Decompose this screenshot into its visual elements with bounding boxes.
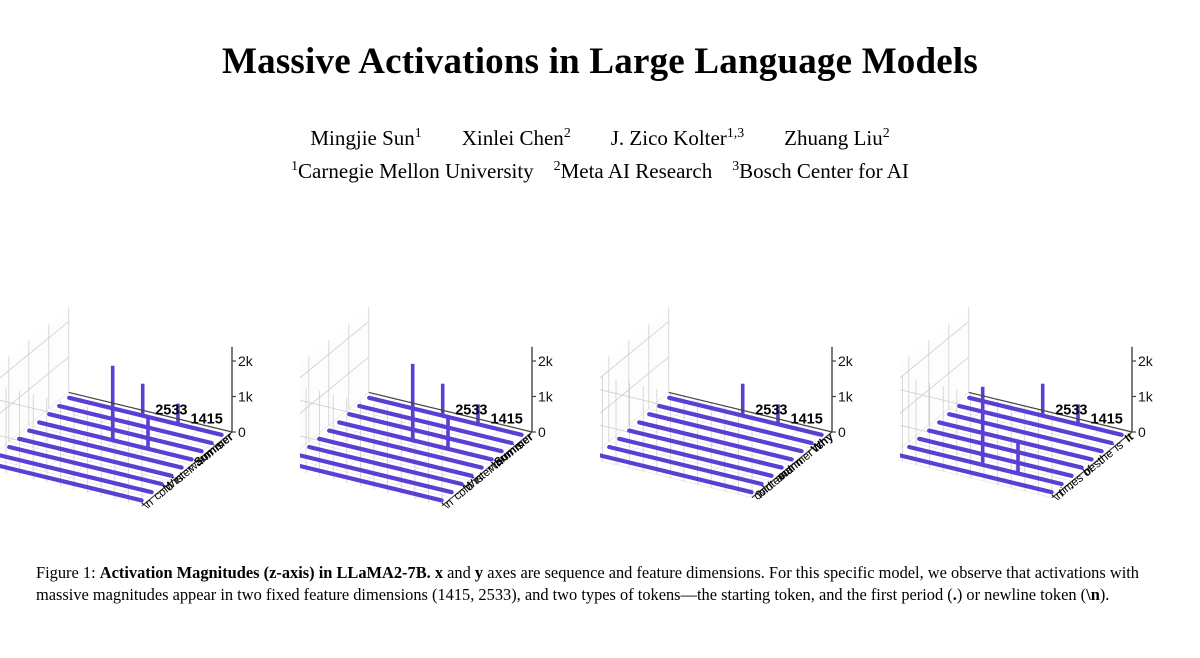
y-tick-label: 2533: [155, 403, 187, 419]
caption-label: Figure 1:: [36, 563, 100, 582]
figure-1: 01k2k14152533Summeriswarm.Winteriscold.\…: [0, 280, 1200, 555]
author-name: Xinlei Chen: [462, 126, 564, 150]
affiliations-row: 1Carnegie Mellon University2Meta AI Rese…: [0, 158, 1200, 186]
author-affil-mark: 2: [883, 125, 890, 140]
author-2: Xinlei Chen2: [462, 126, 571, 150]
z-tick-label: 1k: [1138, 389, 1154, 405]
z-tick-label: 1k: [838, 389, 854, 405]
activation-3d-plot-2: 01k2k14152533Whyissummerwarmandwintercol…: [600, 280, 900, 555]
z-axis-ticks: 01k2k: [232, 353, 254, 440]
z-tick-label: 1k: [538, 389, 554, 405]
author-3: J. Zico Kolter1,3: [611, 126, 744, 150]
author-1: Mingjie Sun1: [310, 126, 421, 150]
affiliation-3: 3Bosch Center for AI: [732, 159, 909, 183]
author-affil-mark: 1: [415, 125, 422, 140]
y-tick-label: 1415: [491, 411, 523, 427]
caption-axis-x: x: [435, 563, 443, 582]
affiliation-2: 2Meta AI Research: [554, 159, 713, 183]
y-tick-label: 2533: [755, 403, 787, 419]
caption-text-1: and: [443, 563, 475, 582]
affiliation-mark: 2: [554, 158, 561, 173]
y-tick-label: 1415: [191, 411, 223, 427]
author-affil-mark: 1,3: [727, 125, 744, 140]
z-axis-ticks: 01k2k: [532, 353, 554, 440]
z-tick-label: 2k: [238, 353, 254, 369]
affiliation-name: Carnegie Mellon University: [298, 159, 534, 183]
caption-text-3: ) or newline token (: [957, 585, 1086, 604]
z-tick-label: 2k: [838, 353, 854, 369]
affiliation-name: Meta AI Research: [561, 159, 713, 183]
z-axis-ticks: 01k2k: [832, 353, 854, 440]
figure-panel-1: 01k2k14152533Summeriswarm\nWinteriscold.…: [300, 280, 600, 555]
author-affil-mark: 2: [564, 125, 571, 140]
z-tick-label: 0: [838, 424, 846, 440]
z-tick-label: 1k: [238, 389, 254, 405]
activation-3d-plot-0: 01k2k14152533Summeriswarm.Winteriscold.\…: [0, 280, 300, 555]
paper-page: Massive Activations in Large Language Mo…: [0, 42, 1200, 658]
z-tick-label: 0: [538, 424, 546, 440]
y-tick-label: 2533: [1055, 403, 1087, 419]
z-tick-label: 2k: [1138, 353, 1154, 369]
affiliation-1: 1Carnegie Mellon University: [291, 159, 534, 183]
author-block: Mingjie Sun1Xinlei Chen2J. Zico Kolter1,…: [0, 125, 1200, 186]
figure-panel-0: 01k2k14152533Summeriswarm.Winteriscold.\…: [0, 280, 300, 555]
activation-3d-plot-3: 01k2k14152533Itisthebestoftimes.\n: [900, 280, 1200, 555]
caption-text-4: ).: [1100, 585, 1110, 604]
author-name: Zhuang Liu: [784, 126, 883, 150]
z-axis-ticks: 01k2k: [1132, 353, 1154, 440]
y-tick-label: 2533: [455, 403, 487, 419]
y-tick-label: 1415: [791, 411, 823, 427]
z-tick-label: 2k: [538, 353, 554, 369]
activation-3d-plot-1: 01k2k14152533Summeriswarm\nWinteriscold.…: [300, 280, 600, 555]
z-tick-label: 0: [238, 424, 246, 440]
caption-bold-lead: Activation Magnitudes (z-axis) in LLaMA2…: [100, 563, 435, 582]
y-tick-label: 1415: [1091, 411, 1123, 427]
page-title: Massive Activations in Large Language Mo…: [0, 42, 1200, 83]
caption-newline-token: \n: [1086, 585, 1100, 604]
figure-caption: Figure 1: Activation Magnitudes (z-axis)…: [36, 562, 1168, 606]
author-name: Mingjie Sun: [310, 126, 414, 150]
author-4: Zhuang Liu2: [784, 126, 890, 150]
figure-panel-2: 01k2k14152533Whyissummerwarmandwintercol…: [600, 280, 900, 555]
caption-axis-y: y: [475, 563, 483, 582]
author-name: J. Zico Kolter: [611, 126, 727, 150]
x-token-label: It: [1123, 431, 1136, 445]
author-names-row: Mingjie Sun1Xinlei Chen2J. Zico Kolter1,…: [0, 125, 1200, 153]
affiliation-name: Bosch Center for AI: [739, 159, 909, 183]
figure-panel-3: 01k2k14152533Itisthebestoftimes.\n: [900, 280, 1200, 555]
figure-panels: 01k2k14152533Summeriswarm.Winteriscold.\…: [0, 280, 1200, 555]
affiliation-mark: 1: [291, 158, 298, 173]
z-tick-label: 0: [1138, 424, 1146, 440]
